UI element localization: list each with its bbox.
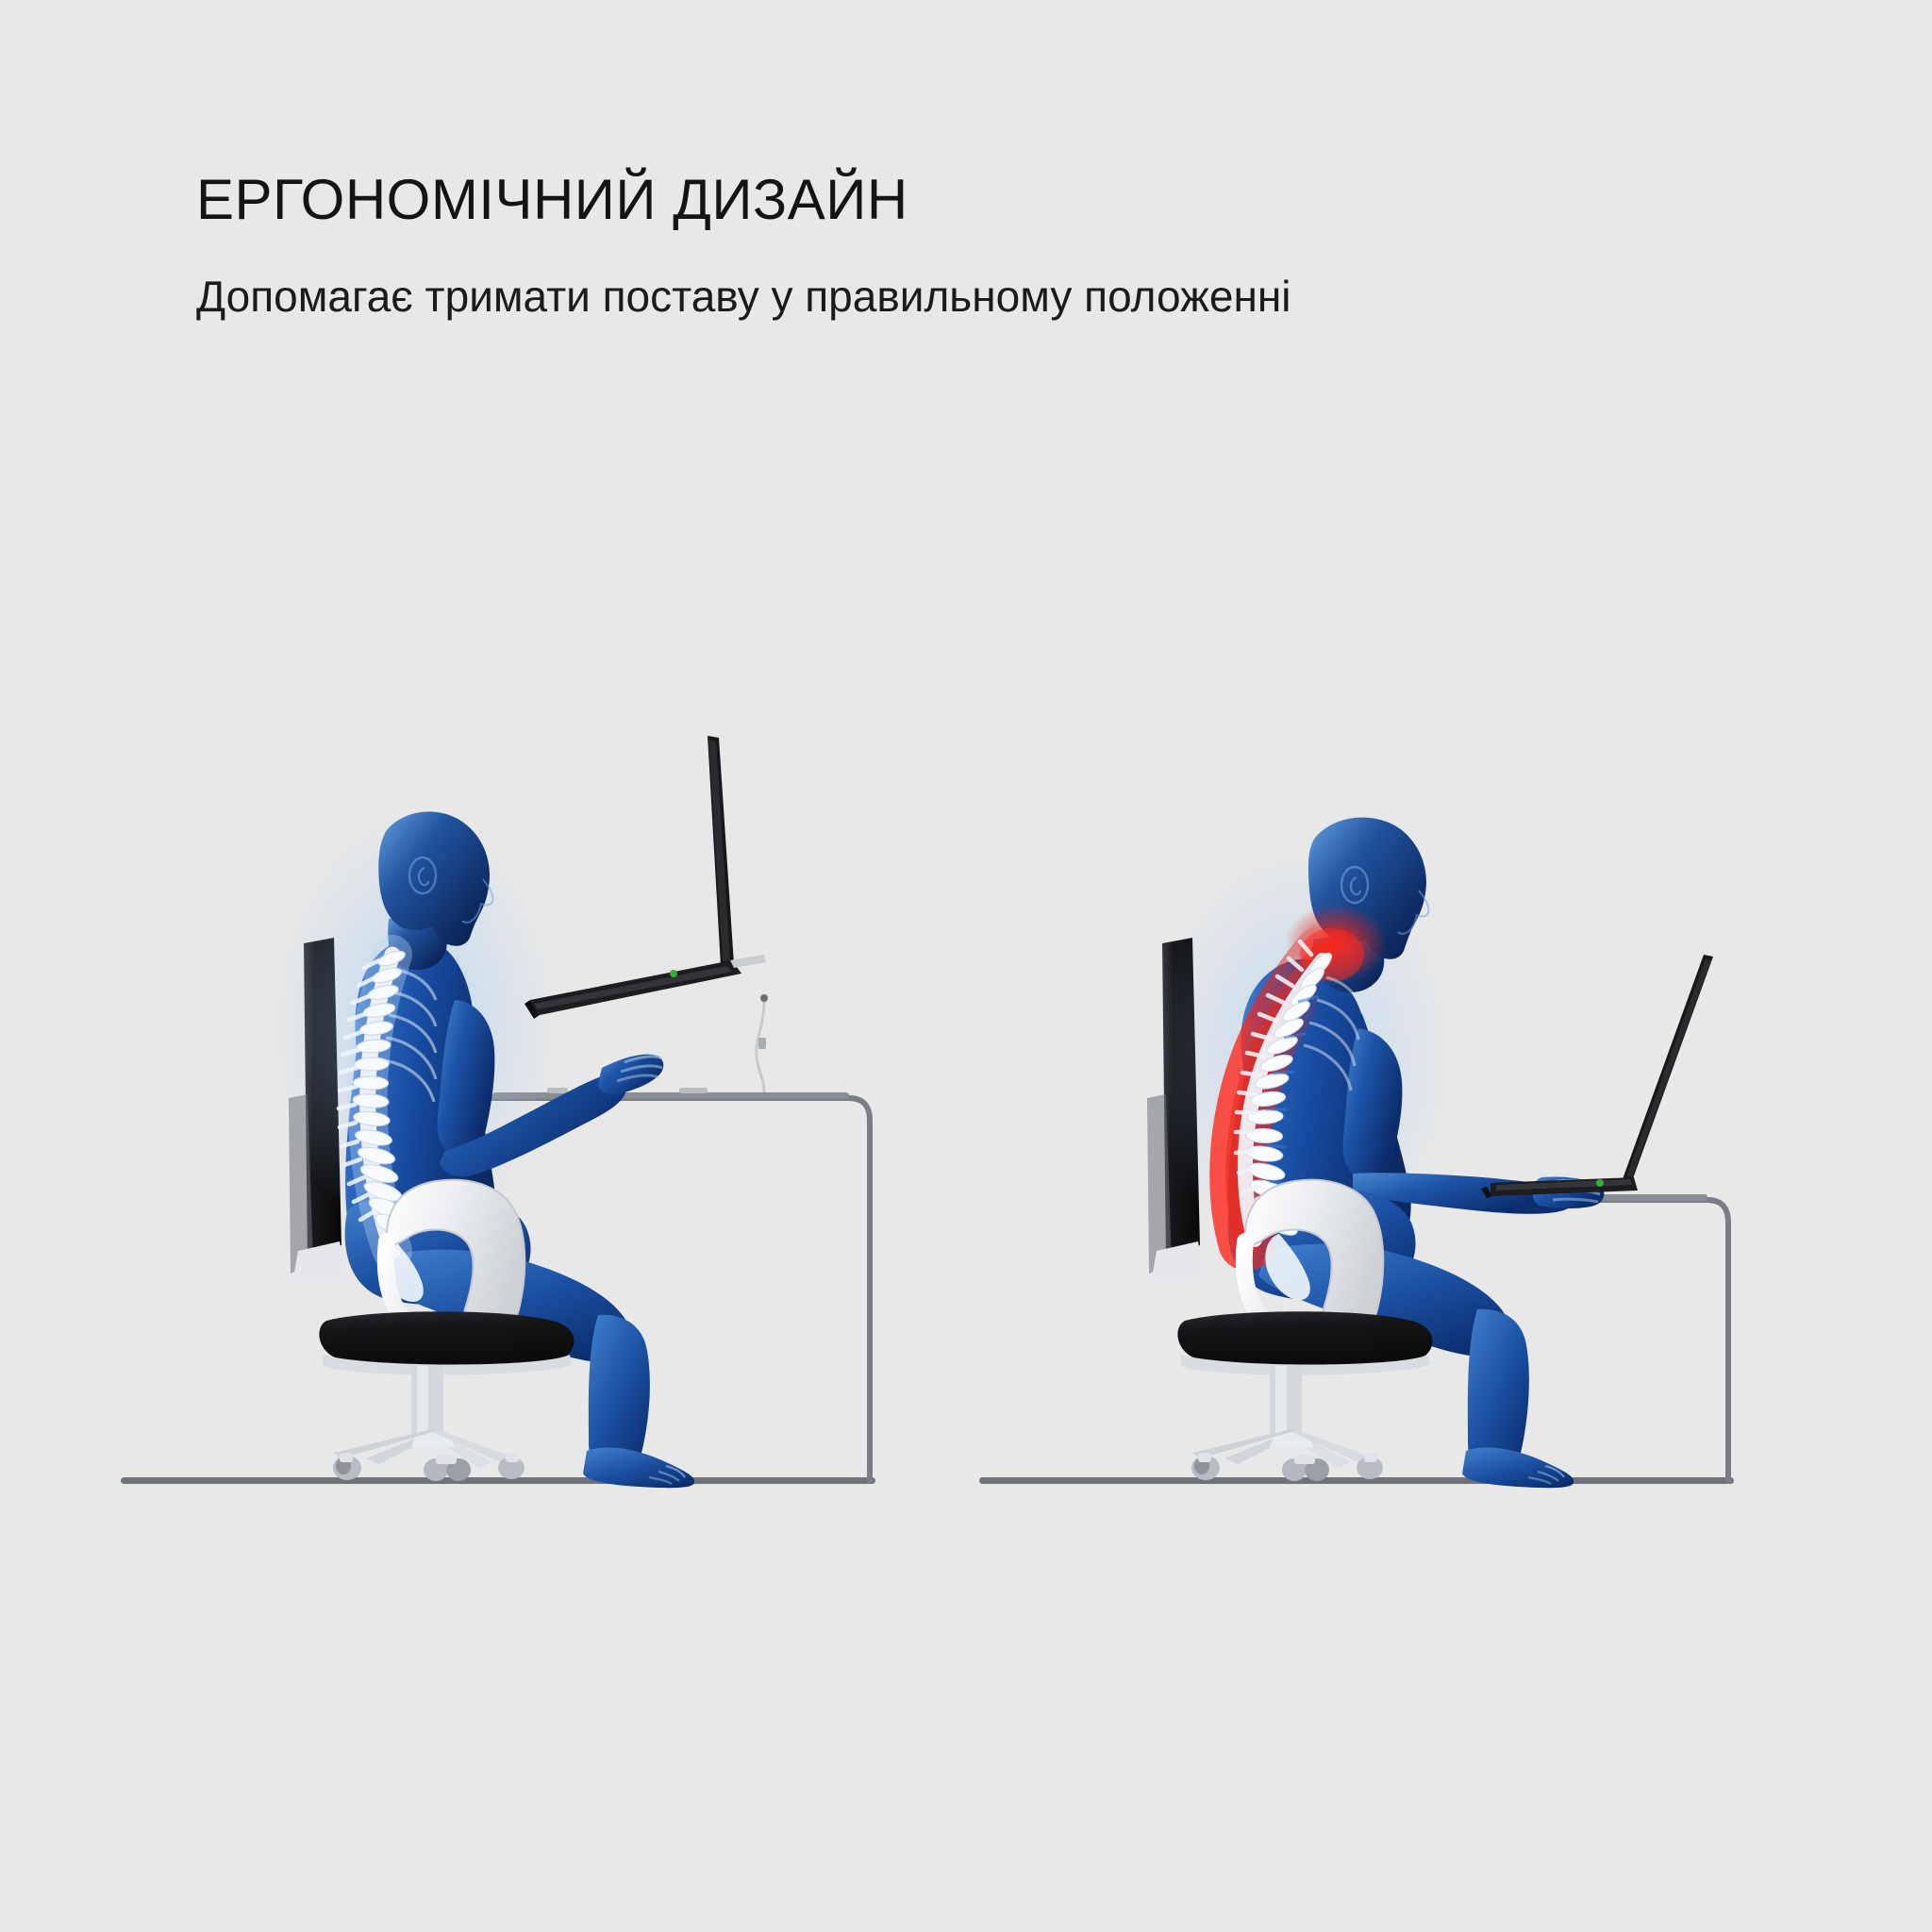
chair-seat (1177, 1311, 1432, 1374)
chair-seat (319, 1311, 574, 1374)
floor-line (979, 1477, 1734, 1484)
chair-base (334, 1430, 511, 1468)
foot (583, 1447, 694, 1488)
laptop-raised (525, 736, 766, 1019)
chair-base (1192, 1430, 1370, 1468)
illustration-correct-posture (104, 717, 953, 1594)
foot (1462, 1447, 1574, 1488)
human-figure-upright (274, 811, 694, 1488)
power-cable (757, 994, 768, 1092)
chair-gas-cylinder (411, 1366, 443, 1438)
laptop-on-desk (1481, 955, 1713, 1198)
page-subtitle: Допомагає тримати поставу у правильному … (196, 229, 1800, 323)
header-block: ЕРГОНОМІЧНИЙ ДИЗАЙН Допомагає тримати по… (196, 170, 1800, 323)
floor-line (121, 1477, 875, 1484)
illustration-incorrect-posture (962, 717, 1811, 1594)
page-title: ЕРГОНОМІЧНИЙ ДИЗАЙН (196, 170, 1800, 229)
hand-on-keyboard (598, 1055, 663, 1095)
chair-gas-cylinder (1270, 1366, 1302, 1438)
